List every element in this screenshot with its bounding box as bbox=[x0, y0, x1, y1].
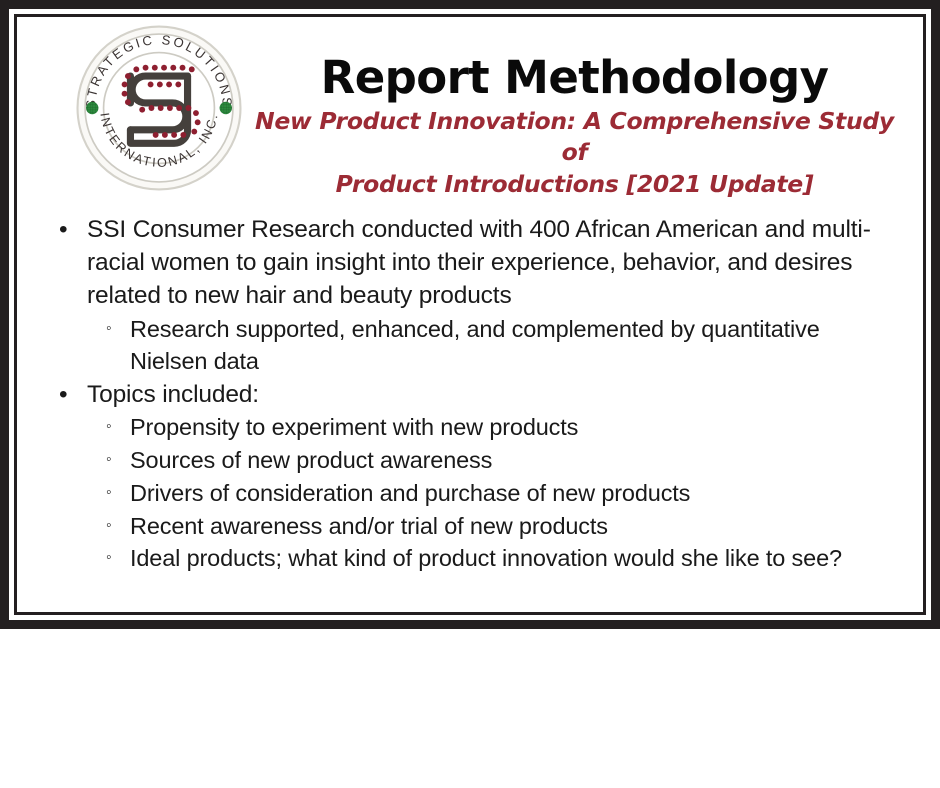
sub-bullet-text: Sources of new product awareness bbox=[130, 447, 492, 473]
bullet-marker-icon: • bbox=[59, 213, 67, 246]
sub-bullet-marker-icon: ◦ bbox=[106, 313, 112, 346]
bullet-item: • Topics included: ◦ Propensity to exper… bbox=[48, 378, 893, 575]
page-subtitle-line-1: New Product Innovation: A Comprehensive … bbox=[255, 107, 894, 166]
sub-bullet-item: ◦ Ideal products; what kind of product i… bbox=[96, 542, 893, 575]
sub-bullet-marker-icon: ◦ bbox=[106, 411, 112, 444]
title-block: Report Methodology New Product Innovatio… bbox=[252, 55, 897, 200]
page-title: Report Methodology bbox=[252, 55, 897, 102]
company-logo-seal-icon: STRATEGIC SOLUTIONS INTERNATIONAL, INC. bbox=[75, 24, 243, 192]
sub-bullet-marker-icon: ◦ bbox=[106, 542, 112, 575]
page-subtitle: New Product Innovation: A Comprehensive … bbox=[252, 106, 897, 200]
sub-bullet-text: Drivers of consideration and purchase of… bbox=[130, 480, 690, 506]
bullet-item: • SSI Consumer Research conducted with 4… bbox=[48, 213, 893, 378]
bullet-text: SSI Consumer Research conducted with 400… bbox=[87, 216, 871, 309]
sub-bullet-item: ◦ Recent awareness and/or trial of new p… bbox=[96, 510, 893, 543]
bullet-list-level2: ◦ Research supported, enhanced, and comp… bbox=[87, 313, 893, 379]
slide-body: STRATEGIC SOLUTIONS INTERNATIONAL, INC. bbox=[17, 17, 923, 612]
globe-icon-right bbox=[220, 102, 232, 114]
slide-frame-inner: STRATEGIC SOLUTIONS INTERNATIONAL, INC. bbox=[14, 14, 926, 615]
sub-bullet-item: ◦ Drivers of consideration and purchase … bbox=[96, 477, 893, 510]
sub-bullet-marker-icon: ◦ bbox=[106, 477, 112, 510]
globe-icon-left bbox=[86, 102, 98, 114]
slide-header: STRATEGIC SOLUTIONS INTERNATIONAL, INC. bbox=[17, 17, 923, 207]
sub-bullet-item: ◦ Sources of new product awareness bbox=[96, 444, 893, 477]
slide-frame-outer: STRATEGIC SOLUTIONS INTERNATIONAL, INC. bbox=[0, 0, 940, 629]
sub-bullet-marker-icon: ◦ bbox=[106, 444, 112, 477]
sub-bullet-marker-icon: ◦ bbox=[106, 510, 112, 543]
sub-bullet-text: Propensity to experiment with new produc… bbox=[130, 414, 578, 440]
page-subtitle-line-2: Product Introductions [2021 Update] bbox=[336, 170, 814, 198]
sub-bullet-item: ◦ Propensity to experiment with new prod… bbox=[96, 411, 893, 444]
sub-bullet-item: ◦ Research supported, enhanced, and comp… bbox=[96, 313, 893, 379]
bullet-list-level2: ◦ Propensity to experiment with new prod… bbox=[87, 411, 893, 575]
sub-bullet-text: Research supported, enhanced, and comple… bbox=[130, 316, 820, 375]
sub-bullet-text: Recent awareness and/or trial of new pro… bbox=[130, 513, 608, 539]
sub-bullet-text: Ideal products; what kind of product inn… bbox=[130, 545, 842, 571]
bullet-text: Topics included: bbox=[87, 381, 259, 408]
bullet-list-level1: • SSI Consumer Research conducted with 4… bbox=[17, 213, 923, 575]
bullet-marker-icon: • bbox=[59, 378, 67, 411]
slide-content: • SSI Consumer Research conducted with 4… bbox=[17, 213, 923, 612]
